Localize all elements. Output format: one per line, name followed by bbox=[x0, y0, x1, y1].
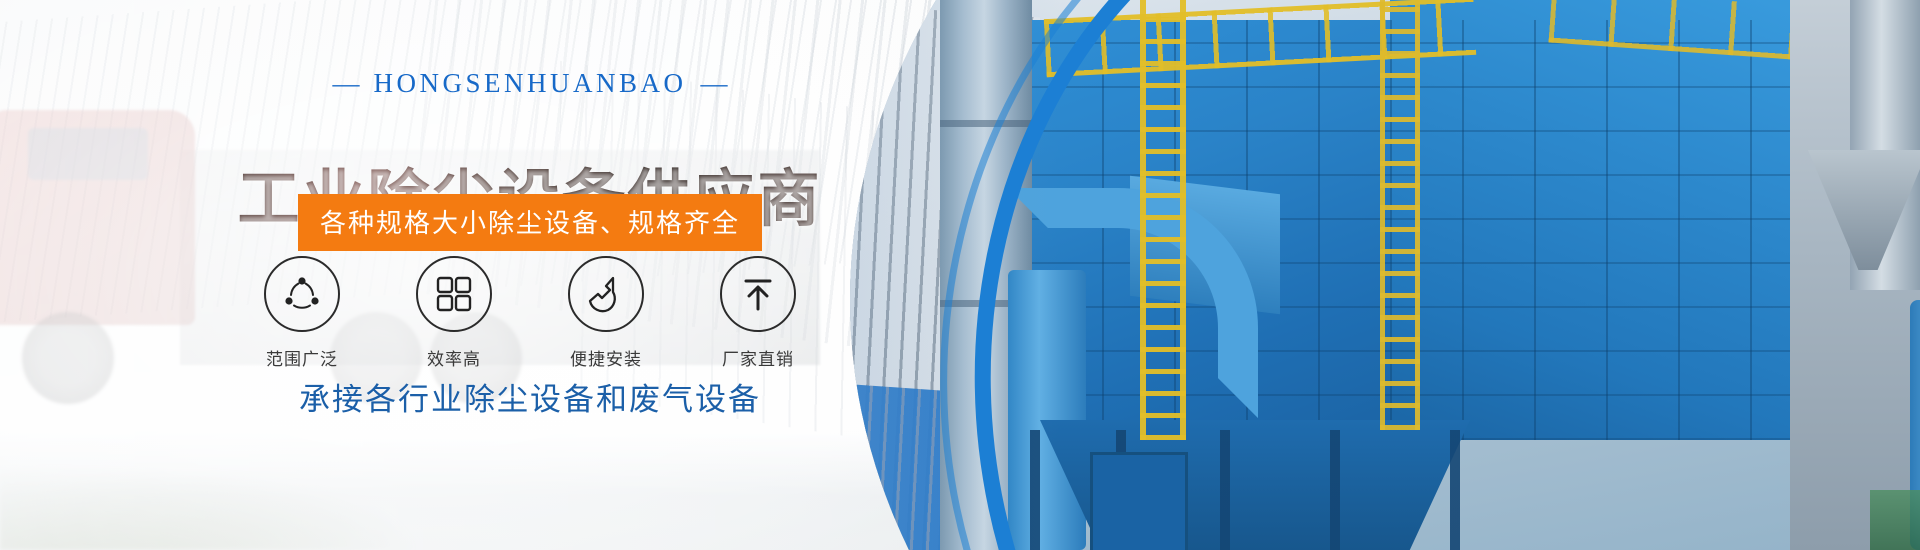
hero-banner: —HONGSENHUANBAO— 工业除尘设备供应商 各种规格大小除尘设备、规格… bbox=[0, 0, 1920, 550]
sub-bar: 各种规格大小除尘设备、规格齐全 bbox=[0, 194, 1060, 251]
feature-item-install[interactable]: 便捷安装 bbox=[563, 256, 649, 370]
wrench-icon bbox=[568, 256, 644, 332]
feature-item-factory-direct[interactable]: 厂家直销 bbox=[715, 256, 801, 370]
eyebrow-line: —HONGSENHUANBAO— bbox=[0, 68, 1060, 99]
network-nodes-icon bbox=[264, 256, 340, 332]
dash-left: — bbox=[332, 68, 359, 99]
up-arrow-icon bbox=[720, 256, 796, 332]
feature-label: 厂家直销 bbox=[715, 345, 801, 370]
feature-label: 范围广泛 bbox=[259, 345, 345, 370]
feature-item-range[interactable]: 范围广泛 bbox=[259, 256, 345, 370]
tagline: 承接各行业除尘设备和废气设备 bbox=[0, 374, 1060, 419]
eyebrow-text: HONGSENHUANBAO bbox=[373, 68, 686, 98]
hero-content: —HONGSENHUANBAO— 工业除尘设备供应商 各种规格大小除尘设备、规格… bbox=[0, 0, 1060, 550]
feature-label: 便捷安装 bbox=[563, 345, 649, 370]
feature-item-efficiency[interactable]: 效率高 bbox=[411, 256, 497, 370]
feature-label: 效率高 bbox=[411, 345, 497, 370]
sub-bar-text: 各种规格大小除尘设备、规格齐全 bbox=[298, 194, 762, 251]
dash-right: — bbox=[701, 68, 728, 99]
grid-squares-icon bbox=[416, 256, 492, 332]
feature-list: 范围广泛 效率高 bbox=[0, 256, 1060, 370]
